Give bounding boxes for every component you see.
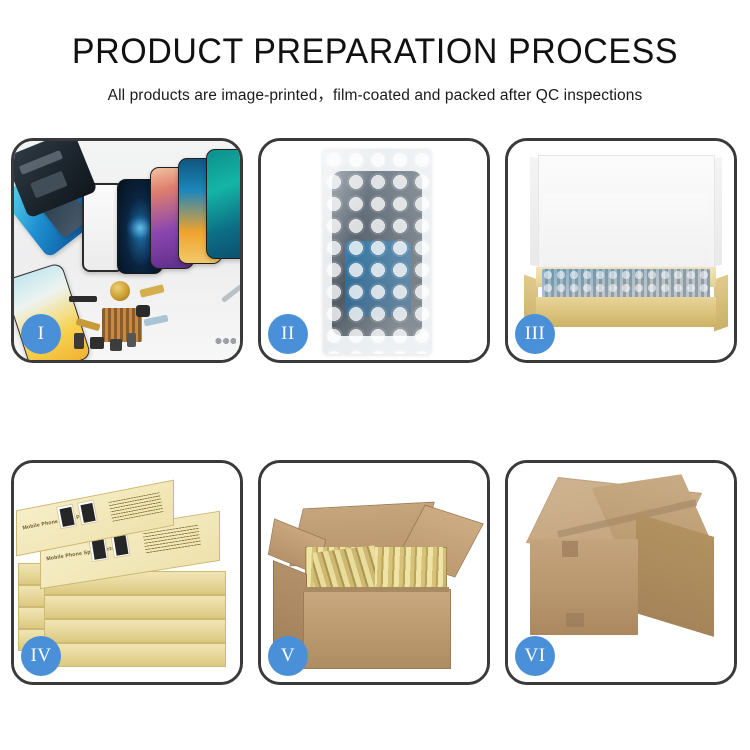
stacked-box-layer <box>44 595 226 619</box>
stacked-box-layer <box>44 643 226 667</box>
step-badge-1: I <box>21 314 61 354</box>
box-front-panel-icon <box>536 297 716 327</box>
speaker-coil-part-icon <box>110 281 130 301</box>
step-panel-stacked-labeled-boxes[interactable]: Mobile Phone Spare Parts Mobile Phone Sp… <box>11 460 243 685</box>
step-badge-3: III <box>515 314 555 354</box>
step-badge-5: V <box>268 636 308 676</box>
step-panel-sealed-shipping-carton[interactable]: VI <box>505 460 737 685</box>
small-component-icon <box>90 337 104 349</box>
step-panel-open-shipping-carton[interactable]: V <box>258 460 490 685</box>
page-title: PRODUCT PREPARATION PROCESS <box>11 34 739 71</box>
black-strip-part-icon <box>69 296 97 302</box>
plastic-gloss-overlay <box>323 149 431 354</box>
step-panel-bubble-wrapped-item[interactable]: II <box>258 138 490 363</box>
carton-flap-tab-icon <box>566 613 584 627</box>
foam-liner-icon <box>544 193 707 271</box>
bubble-wrap-package-icon <box>323 149 431 354</box>
page-header: PRODUCT PREPARATION PROCESS All products… <box>0 0 750 105</box>
small-component-icon <box>127 333 136 347</box>
box-side-right-icon <box>714 274 728 331</box>
stacked-box-layer <box>44 619 226 643</box>
screws-icon <box>214 337 236 345</box>
small-component-icon <box>110 339 122 351</box>
step-panel-open-kraft-box[interactable]: III <box>505 138 737 363</box>
carton-front-panel-icon <box>303 589 451 669</box>
small-component-icon <box>74 333 84 349</box>
carton-front-panel-icon <box>530 539 638 635</box>
page-subtitle: All products are image-printed，film-coat… <box>0 83 750 105</box>
step-badge-2: II <box>268 314 308 354</box>
camera-module-icon <box>136 305 150 317</box>
step-badge-4: IV <box>21 636 61 676</box>
carton-rim-icon <box>303 587 449 592</box>
process-row-bottom: Mobile Phone Spare Parts Mobile Phone Sp… <box>11 460 739 685</box>
carton-flap-tab-icon <box>562 541 578 557</box>
process-step-grid: I II <box>11 138 739 685</box>
step-badge-6: VI <box>515 636 555 676</box>
process-row-top: I II <box>11 138 739 363</box>
step-panel-products-and-parts[interactable]: I <box>11 138 243 363</box>
teal-phone-display-icon <box>206 149 240 259</box>
